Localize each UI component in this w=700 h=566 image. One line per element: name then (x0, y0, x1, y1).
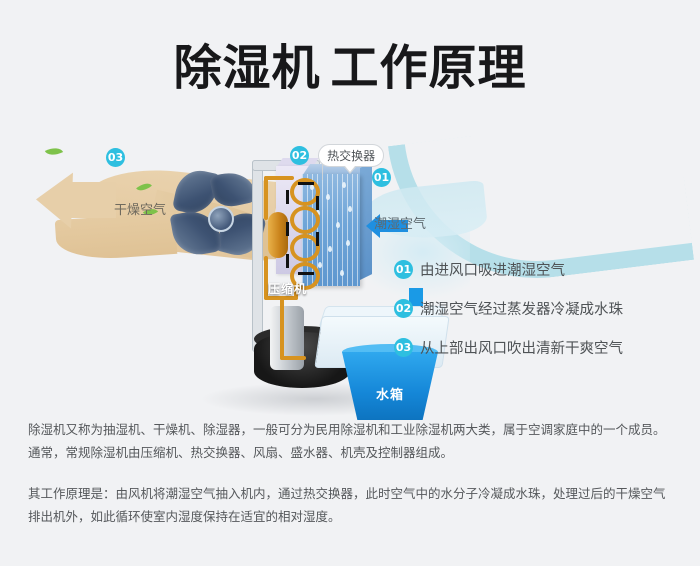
airflow-arrow-down (316, 196, 319, 210)
dry-air-label: 干燥空气 (114, 199, 166, 218)
condensation-droplet (336, 222, 340, 228)
condensation-droplet (340, 270, 344, 276)
step-text: 从上部出风口吹出清新干爽空气 (420, 337, 623, 358)
list-item: 01 由进风口吸进潮湿空气 (394, 258, 684, 280)
condensation-droplet (326, 194, 330, 200)
airflow-arrow-right (298, 182, 314, 185)
leaf-icon (45, 144, 63, 159)
chassis-frame-left (252, 160, 263, 352)
step-text: 由进风口吸进潮湿空气 (420, 259, 565, 280)
infographic-page: 除湿机工作原理 (0, 0, 700, 566)
paragraph-1: 除湿机又称为抽湿机、干燥机、除湿器，一般可分为民用除湿机和工业除湿机两大类，属于… (28, 418, 676, 464)
step-badge: 01 (394, 260, 413, 279)
water-tank-label: 水箱 (342, 384, 438, 403)
refrigerant-pipe (280, 298, 284, 360)
condensation-droplet (348, 206, 352, 212)
refrigerant-pipe (264, 176, 268, 220)
condensation-droplet (342, 182, 346, 188)
airflow-arrow-down (316, 232, 319, 246)
heat-exchanger-badge: 02 (290, 146, 309, 165)
paragraph-2: 其工作原理是：由风机将潮湿空气抽入机内，通过热交换器，此时空气中的水分子冷凝成水… (28, 482, 676, 528)
steps-list: 01 由进风口吸进潮湿空气 02 潮湿空气经过蒸发器冷凝成水珠 03 从上部出风… (394, 258, 684, 375)
step-text: 潮湿空气经过蒸发器冷凝成水珠 (420, 298, 623, 319)
callout-pointer-line (322, 164, 323, 180)
list-item: 02 潮湿空气经过蒸发器冷凝成水珠 (394, 297, 684, 319)
refrigerant-pipe (280, 356, 306, 360)
heat-exchanger-callout: 02 热交换器 (290, 144, 384, 167)
refrigerant-coil (290, 206, 320, 234)
dehumidifier-unit: 水箱 (246, 156, 392, 386)
fan-hub (208, 206, 234, 232)
title-part-1: 除湿机 (173, 40, 320, 96)
dry-air-badge: 03 (106, 148, 125, 167)
airflow-arrow-up (286, 222, 289, 236)
airflow-arrow-up (286, 254, 289, 268)
dry-air-callout: 03 干燥空气 (106, 148, 166, 218)
airflow-arrow-left (298, 272, 314, 275)
compressor-label: 压缩机 (268, 280, 307, 297)
condensation-droplet (346, 240, 350, 246)
step-badge: 03 (394, 338, 413, 357)
humid-air-badge: 01 (372, 168, 391, 187)
refrigerant-receiver (268, 212, 288, 258)
condensation-droplet (318, 262, 322, 268)
airflow-arrow-up (286, 190, 289, 204)
dry-air-flow-lower (55, 212, 178, 262)
title-part-2: 工作原理 (331, 40, 527, 96)
step-badge: 02 (394, 299, 413, 318)
description-section: 除湿机又称为抽湿机、干燥机、除湿器，一般可分为民用除湿机和工业除湿机两大类，属于… (28, 418, 676, 546)
compressor-cylinder (270, 306, 304, 370)
page-title: 除湿机工作原理 (0, 34, 700, 104)
refrigerant-pipe (264, 176, 294, 180)
humid-air-callout: 01 潮湿空气 (372, 168, 426, 232)
condensation-droplet (328, 246, 332, 252)
humid-air-label: 潮湿空气 (374, 213, 426, 232)
dry-air-arrow-head (35, 171, 73, 228)
list-item: 03 从上部出风口吹出清新干爽空气 (394, 336, 684, 358)
heat-exchanger-label: 热交换器 (318, 144, 384, 167)
